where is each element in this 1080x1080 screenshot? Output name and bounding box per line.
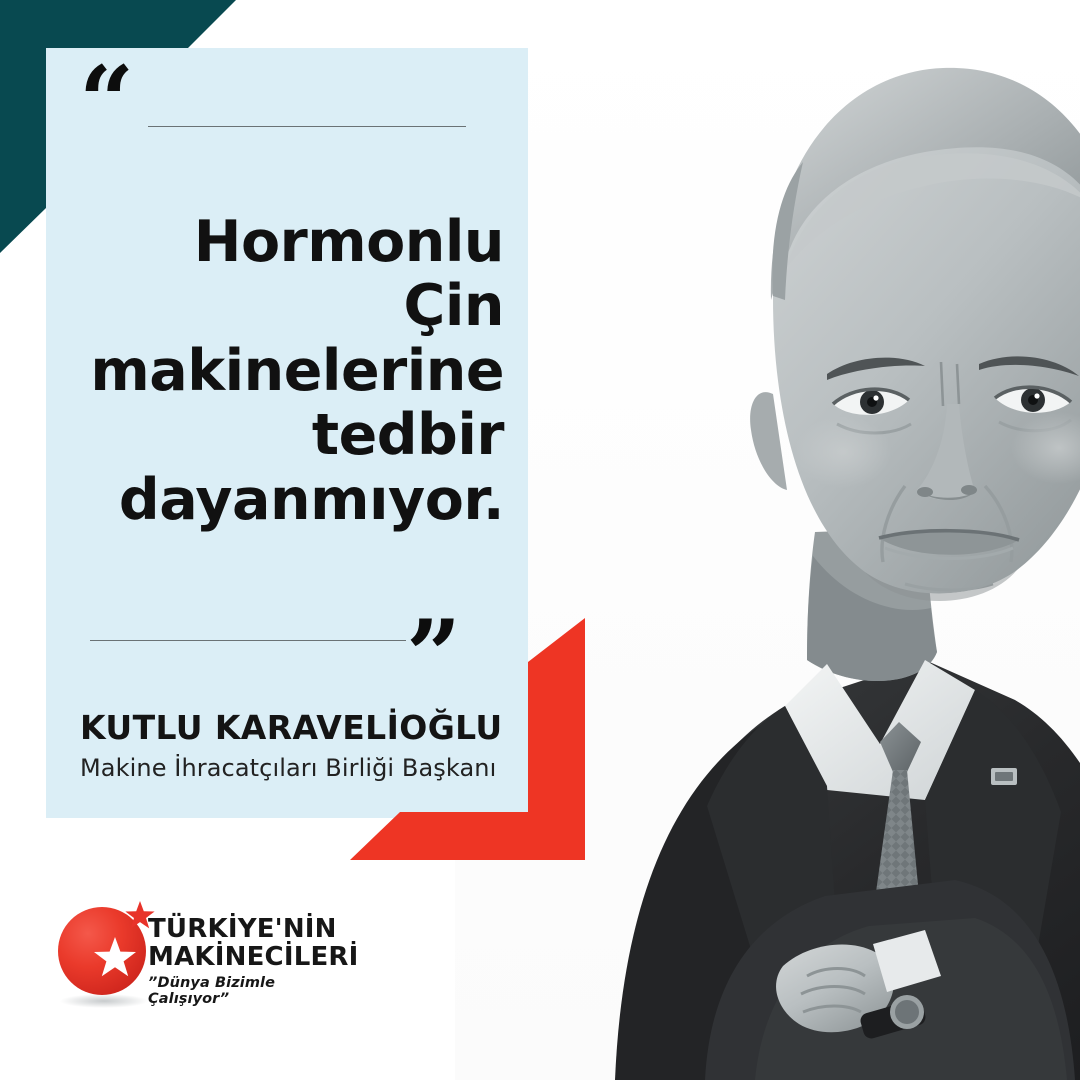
logo-line-2: MAKİNECİLERİ [148, 943, 359, 971]
portrait-photo [455, 0, 1080, 1080]
logo-line-1: TÜRKİYE'NİN [148, 915, 359, 943]
quote-text: Hormonlu Çin makinelerine tedbir dayanmı… [74, 210, 504, 532]
brand-logo: TÜRKİYE'NİN MAKİNECİLERİ ”Dünya Bizimle … [52, 893, 332, 1011]
rule-top [148, 126, 466, 127]
social-quote-card: “ Hormonlu Çin makinelerine tedbir dayan… [0, 0, 1080, 1080]
red-corner-bracket [320, 600, 620, 880]
logo-wordmark: TÜRKİYE'NİN MAKİNECİLERİ ”Dünya Bizimle … [148, 915, 359, 1007]
logo-tagline: ”Dünya Bizimle Çalışıyor” [148, 975, 359, 1007]
red-sphere-with-star-icon [52, 893, 160, 1011]
opening-quote-mark: “ [79, 54, 132, 150]
